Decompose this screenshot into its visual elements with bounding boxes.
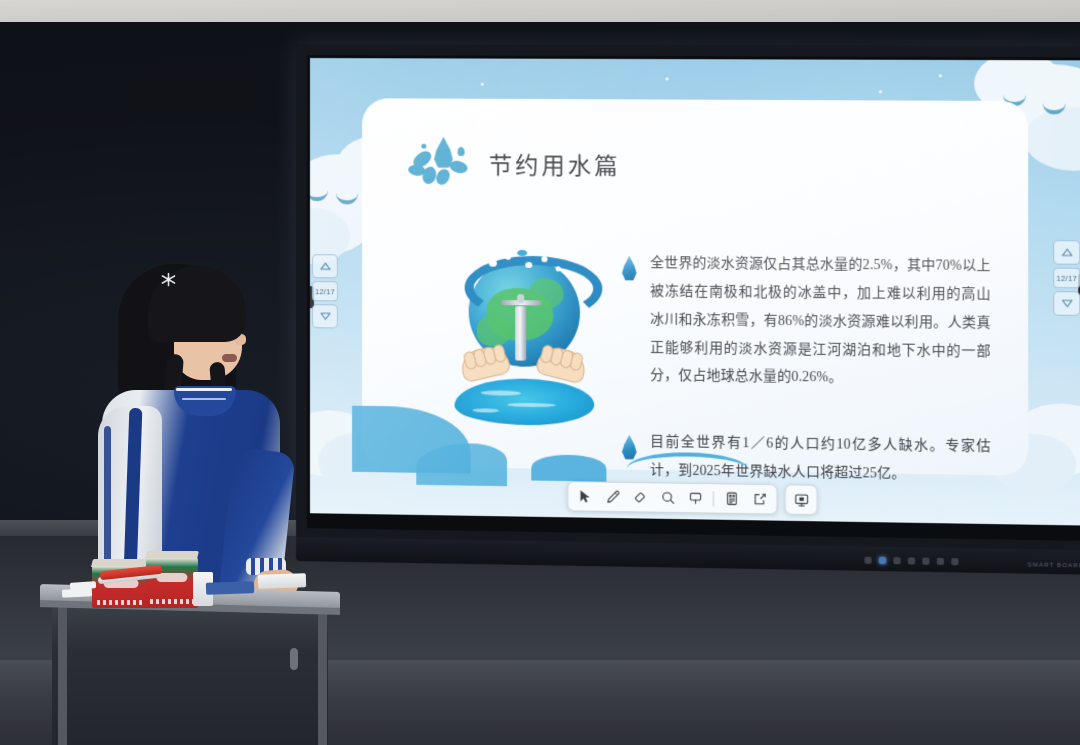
water-puddle <box>455 378 595 426</box>
bullet-text: 全世界的淡水资源仅占其总水量的2.5%，其中70%以上被冻结在南极和北极的冰盖中… <box>650 249 991 394</box>
list-item: 全世界的淡水资源仅占其总水量的2.5%，其中70%以上被冻结在南极和北极的冰盖中… <box>621 249 991 394</box>
page-nav-left[interactable]: 12/17 <box>312 254 338 328</box>
eraser-icon[interactable] <box>626 484 654 511</box>
lectern-body <box>52 608 328 745</box>
pen-icon[interactable] <box>599 484 626 511</box>
chevron-down-icon <box>1061 299 1072 307</box>
hair-clip <box>160 272 177 287</box>
interactive-flat-panel[interactable]: 节约用水篇 <box>296 44 1080 552</box>
chevron-down-icon <box>319 312 330 320</box>
papers <box>206 581 254 595</box>
share-icon[interactable] <box>746 486 774 513</box>
chevron-up-icon <box>1061 248 1072 256</box>
presentation-mode-icon[interactable] <box>785 484 818 515</box>
water-drop-bullet-icon <box>621 435 638 460</box>
left-hand <box>458 343 512 383</box>
classroom-scene: 节约用水篇 <box>0 0 1080 745</box>
chevron-up-icon <box>319 262 330 270</box>
cursor-icon[interactable] <box>571 483 598 510</box>
page-indicator: 12/17 <box>1053 268 1080 289</box>
qr-code-icon[interactable] <box>718 485 746 512</box>
collar-trim <box>182 398 226 400</box>
panel-brand-label: SMART BOARD <box>1027 562 1080 569</box>
page-title: 节约用水篇 <box>489 146 621 181</box>
right-hand <box>534 343 589 384</box>
slide-toolbar[interactable] <box>567 481 817 515</box>
water-splash-icon <box>408 135 474 192</box>
panel-button[interactable] <box>951 558 958 565</box>
faucet-body <box>515 306 526 360</box>
panel-button[interactable] <box>893 557 900 564</box>
water-globe-illustration <box>455 251 597 434</box>
panel-button[interactable] <box>937 557 944 564</box>
chalk-stick <box>62 588 92 598</box>
slide-title-group: 节约用水篇 <box>408 135 620 193</box>
lectern-leg <box>58 606 67 745</box>
lectern-handle <box>290 648 298 670</box>
magnifier-icon[interactable] <box>654 484 682 511</box>
book <box>258 573 306 589</box>
page-down-button[interactable] <box>1053 291 1080 316</box>
panel-power-button[interactable] <box>879 556 886 563</box>
water-drop-bullet-icon <box>621 256 638 281</box>
faucet-knob <box>517 294 524 303</box>
laser-pointer-icon[interactable] <box>681 485 709 512</box>
toolbar-divider <box>713 491 714 506</box>
toolbar-main-group[interactable] <box>567 481 777 515</box>
page-nav-right[interactable]: 12/17 <box>1053 240 1080 316</box>
presentation-slide[interactable]: 节约用水篇 <box>310 58 1080 525</box>
page-up-button[interactable] <box>312 254 338 278</box>
collar-trim <box>176 388 232 391</box>
panel-button[interactable] <box>864 556 871 563</box>
slide-content-card: 节约用水篇 <box>362 98 1028 475</box>
mouth <box>222 354 237 362</box>
page-indicator: 12/17 <box>312 281 338 301</box>
page-up-button[interactable] <box>1053 240 1080 265</box>
panel-button[interactable] <box>908 557 915 564</box>
water-splash-top <box>469 251 580 292</box>
page-down-button[interactable] <box>312 304 338 328</box>
panel-button[interactable] <box>922 557 929 564</box>
lectern-leg <box>318 608 327 745</box>
